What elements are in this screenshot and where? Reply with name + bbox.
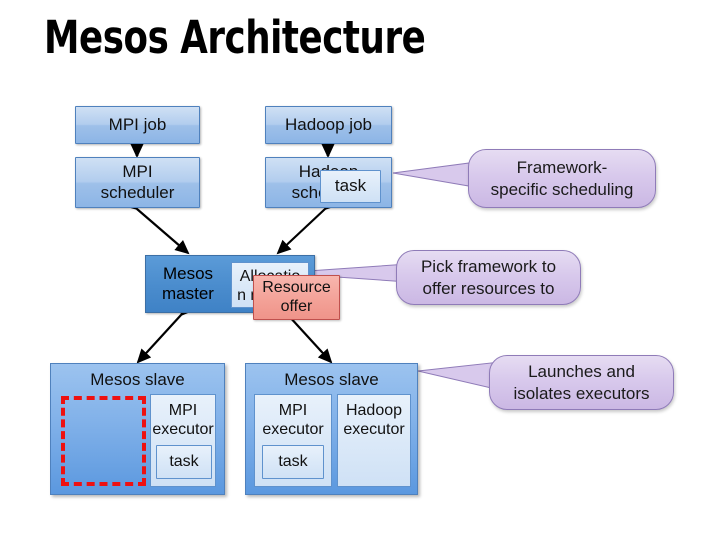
page-title: Mesos Architecture	[44, 14, 425, 61]
callout-framework-scheduling-line2: specific scheduling	[483, 179, 642, 200]
hadoop-executor-right-label-line1: Hadoop	[338, 402, 410, 421]
mesos-slave-right[interactable]: Mesos slave MPI executor task Hadoop exe…	[245, 363, 418, 495]
callout-pick-framework-line2: offer resources to	[415, 278, 563, 299]
callout-tail-slave	[418, 362, 500, 390]
callout-framework-scheduling[interactable]: Framework- specific scheduling	[468, 149, 656, 208]
mpi-executor-right-label: MPI executor	[255, 402, 331, 440]
arrow-master-slave-right	[288, 315, 331, 362]
mpi-executor-right-task[interactable]: task	[262, 445, 324, 479]
mpi-executor-right[interactable]: MPI executor task	[254, 394, 332, 487]
callout-framework-scheduling-line1: Framework-	[509, 157, 616, 178]
mpi-scheduler-box[interactable]: MPI scheduler	[75, 157, 200, 208]
mesos-master-label: Mesos master	[152, 264, 224, 305]
hadoop-executor-right[interactable]: Hadoop executor	[337, 394, 411, 487]
callout-pick-framework-line1: Pick framework to	[413, 256, 564, 277]
mpi-scheduler-label-line1: MPI	[122, 162, 152, 182]
mpi-job-box[interactable]: MPI job	[75, 106, 200, 144]
mesos-slave-left[interactable]: Mesos slave MPI executor task	[50, 363, 225, 495]
mpi-executor-left-task-label: task	[169, 453, 198, 472]
hadoop-scheduler-task-box[interactable]: task	[320, 170, 381, 203]
mpi-job-label: MPI job	[109, 115, 167, 135]
mpi-executor-left[interactable]: MPI executor task	[150, 394, 216, 487]
arrow-master-slave-left	[138, 315, 181, 362]
mpi-executor-left-label-line1: MPI	[151, 402, 215, 421]
resource-offer-label-line1: Resource	[262, 279, 330, 298]
mpi-executor-left-label: MPI executor	[151, 402, 215, 440]
hadoop-executor-right-label: Hadoop executor	[338, 402, 410, 440]
mpi-executor-left-label-line2: executor	[151, 421, 215, 440]
callout-launches-isolates-line1: Launches and	[520, 361, 643, 382]
hadoop-job-label: Hadoop job	[285, 115, 372, 135]
mesos-slave-left-title: Mesos slave	[51, 370, 224, 390]
mesos-slave-right-title: Mesos slave	[246, 370, 417, 390]
mpi-executor-right-task-label: task	[278, 453, 307, 472]
arrow-mpi-scheduler-master	[137, 209, 188, 253]
mesos-master-label-line1: Mesos	[152, 264, 224, 284]
mpi-executor-right-label-line2: executor	[255, 421, 331, 440]
callout-pick-framework[interactable]: Pick framework to offer resources to	[396, 250, 581, 305]
mpi-executor-right-label-line1: MPI	[255, 402, 331, 421]
callout-launches-isolates-line2: isolates executors	[505, 383, 657, 404]
mesos-master-label-line2: master	[152, 284, 224, 304]
slide-canvas: Mesos Architecture MPI job MPI scheduler…	[0, 0, 721, 540]
hadoop-job-box[interactable]: Hadoop job	[265, 106, 392, 144]
resource-offer-box[interactable]: Resource offer	[253, 275, 340, 320]
arrow-hadoop-scheduler-master	[278, 209, 325, 253]
empty-resource-slot	[61, 396, 146, 486]
callout-launches-isolates[interactable]: Launches and isolates executors	[489, 355, 674, 410]
mpi-scheduler-label-line2: scheduler	[101, 183, 175, 203]
hadoop-executor-right-label-line2: executor	[338, 421, 410, 440]
resource-offer-label-line2: offer	[281, 298, 313, 317]
hadoop-scheduler-task-label: task	[335, 176, 366, 196]
mpi-executor-left-task[interactable]: task	[156, 445, 212, 479]
